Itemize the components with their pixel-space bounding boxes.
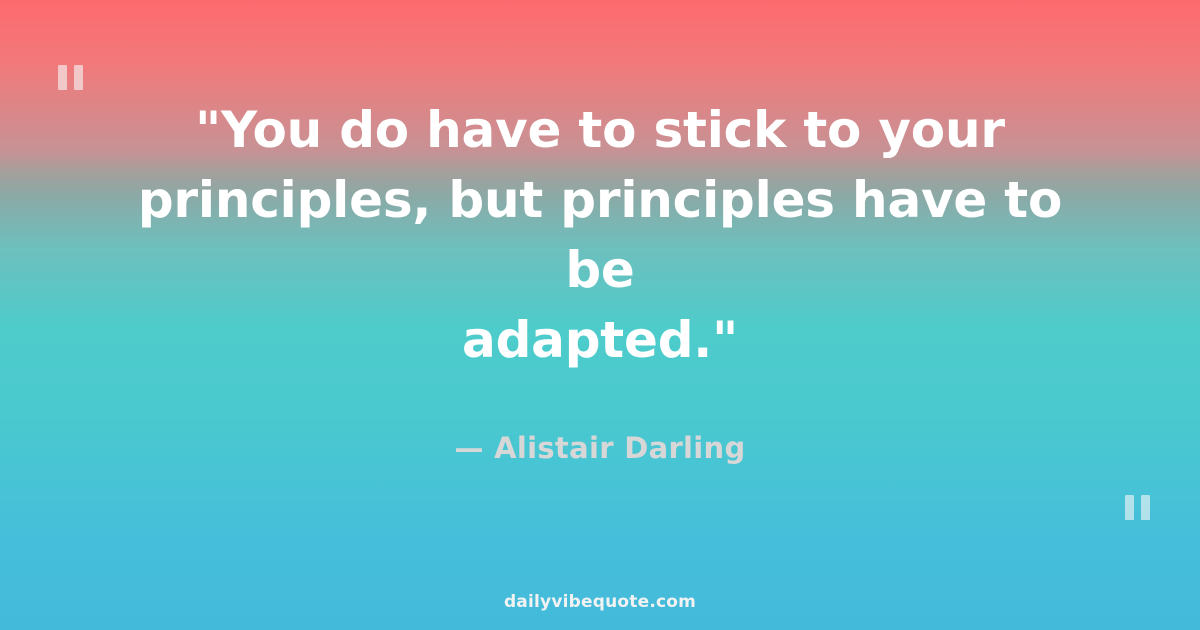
- quote-attribution: — Alistair Darling: [454, 375, 745, 465]
- quote-content: "You do have to stick to your principles…: [0, 0, 1200, 560]
- quote-mark-icon-bottom-right: [1125, 495, 1150, 520]
- quote-mark-bar-right: [1141, 495, 1150, 520]
- quote-text: "You do have to stick to your principles…: [100, 95, 1100, 375]
- quote-mark-bar-left: [1125, 495, 1134, 520]
- site-watermark: dailyvibequote.com: [0, 592, 1200, 612]
- quote-poster: "You do have to stick to your principles…: [0, 0, 1200, 630]
